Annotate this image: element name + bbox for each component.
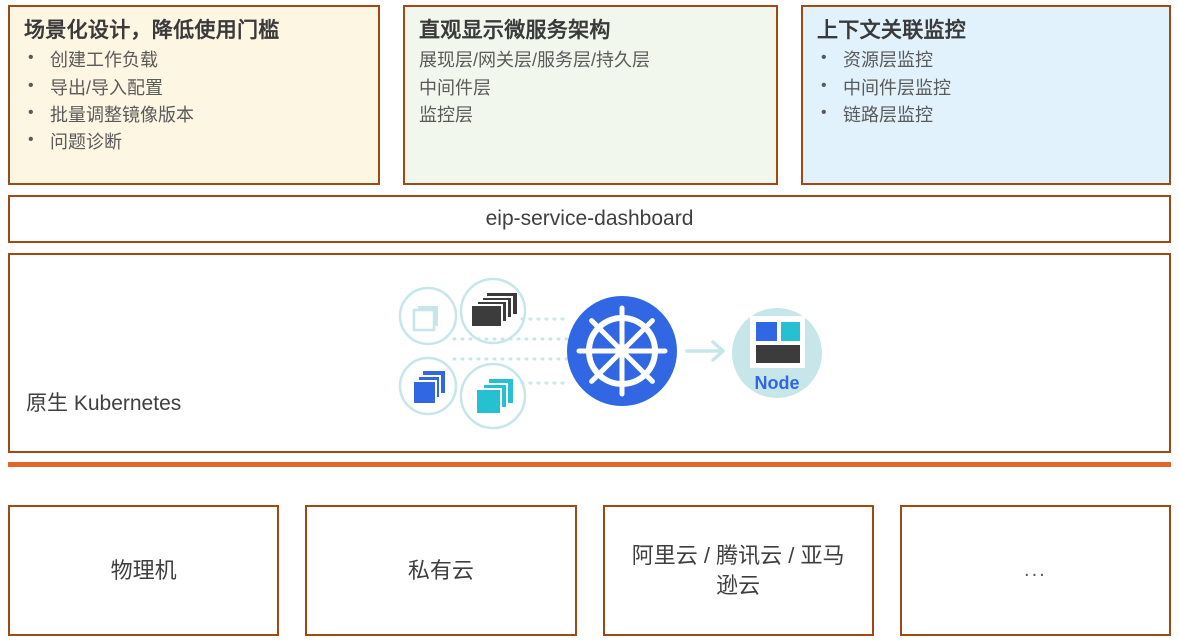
kubernetes-architecture-illustration: Node <box>382 271 822 439</box>
architecture-diagram: 场景化设计，降低使用门槛 创建工作负载 导出/导入配置 批量调整镜像版本 问题诊… <box>0 0 1179 641</box>
kubernetes-helm-wheel-icon <box>567 296 677 406</box>
feature-card-bullet-list: 创建工作负载 导出/导入配置 批量调整镜像版本 问题诊断 <box>24 47 364 156</box>
dashboard-label: eip-service-dashboard <box>486 207 694 231</box>
feature-card-scenario-design: 场景化设计，降低使用门槛 创建工作负载 导出/导入配置 批量调整镜像版本 问题诊… <box>8 5 380 185</box>
infra-label: 私有云 <box>408 556 474 586</box>
container-stack-dark-icon <box>461 279 525 343</box>
feature-card-bullet-list: 资源层监控 中间件层监控 链路层监控 <box>817 47 1155 129</box>
list-item: 资源层监控 <box>817 47 1155 74</box>
infra-label: 物理机 <box>111 556 177 586</box>
list-item: 中间件层 <box>419 75 762 102</box>
list-item: 监控层 <box>419 102 762 129</box>
list-item: 链路层监控 <box>817 102 1155 129</box>
container-stack-teal-icon <box>461 364 525 428</box>
dashboard-band: eip-service-dashboard <box>8 195 1171 243</box>
list-item: 展现层/网关层/服务层/持久层 <box>419 47 762 74</box>
feature-card-title: 上下文关联监控 <box>817 17 1155 45</box>
list-item: 中间件层监控 <box>817 75 1155 102</box>
feature-card-microservice-architecture: 直观显示微服务架构 展现层/网关层/服务层/持久层 中间件层 监控层 <box>403 5 778 185</box>
feature-card-title: 直观显示微服务架构 <box>419 17 762 45</box>
list-item: 问题诊断 <box>24 129 364 156</box>
infra-box-private-cloud: 私有云 <box>305 505 576 636</box>
kubernetes-band: 原生 Kubernetes <box>8 253 1171 453</box>
container-stack-blue-icon <box>400 358 456 414</box>
list-item: 创建工作负载 <box>24 47 364 74</box>
container-outline-icon <box>400 288 456 344</box>
section-divider <box>8 462 1171 467</box>
infrastructure-row: 物理机 私有云 阿里云 / 腾讯云 / 亚马逊云 ... <box>8 505 1171 636</box>
node-label: Node <box>755 373 800 393</box>
infra-label: ... <box>1024 557 1047 584</box>
node-icon: Node <box>732 308 822 398</box>
feature-card-context-monitoring: 上下文关联监控 资源层监控 中间件层监控 链路层监控 <box>801 5 1171 185</box>
arrow-right-icon <box>687 342 723 360</box>
feature-card-title: 场景化设计，降低使用门槛 <box>24 17 364 45</box>
feature-cards-row: 场景化设计，降低使用门槛 创建工作负载 导出/导入配置 批量调整镜像版本 问题诊… <box>8 5 1171 185</box>
feature-card-text-list: 展现层/网关层/服务层/持久层 中间件层 监控层 <box>419 47 762 129</box>
infra-box-physical-machine: 物理机 <box>8 505 279 636</box>
list-item: 导出/导入配置 <box>24 75 364 102</box>
kubernetes-layer-label: 原生 Kubernetes <box>26 387 181 417</box>
infra-label: 阿里云 / 腾讯云 / 亚马逊云 <box>623 541 854 601</box>
infra-box-other: ... <box>900 505 1171 636</box>
infra-box-public-cloud: 阿里云 / 腾讯云 / 亚马逊云 <box>603 505 874 636</box>
list-item: 批量调整镜像版本 <box>24 102 364 129</box>
